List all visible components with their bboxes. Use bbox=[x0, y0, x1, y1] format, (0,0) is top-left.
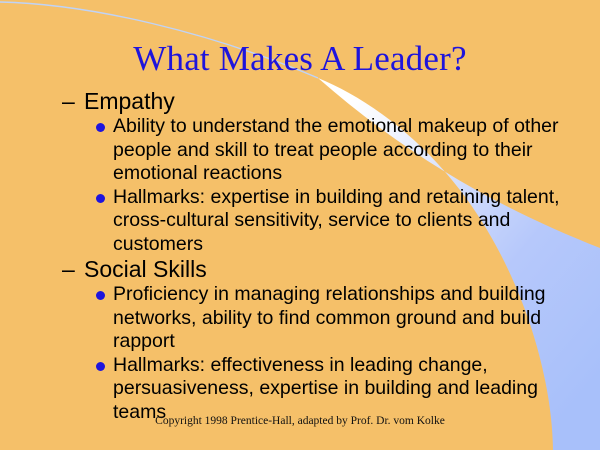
copyright-footer: Copyright 1998 Prentice-Hall, adapted by… bbox=[0, 414, 600, 428]
section-heading-label: Social Skills bbox=[84, 256, 207, 282]
presentation-slide: What Makes A Leader? – Empathy Ability t… bbox=[0, 0, 600, 450]
round-bullet-icon bbox=[96, 194, 105, 203]
bullet-text: Hallmarks: expertise in building and ret… bbox=[113, 186, 560, 255]
bullet-item: Proficiency in managing relationships an… bbox=[96, 283, 575, 354]
slide-body: – Empathy Ability to understand the emot… bbox=[0, 88, 600, 424]
bullet-text: Ability to understand the emotional make… bbox=[113, 115, 559, 184]
bullet-item: Ability to understand the emotional make… bbox=[96, 115, 575, 186]
section-heading-empathy: – Empathy bbox=[62, 88, 600, 115]
round-bullet-icon bbox=[96, 362, 105, 371]
page-title: What Makes A Leader? bbox=[0, 40, 600, 78]
round-bullet-icon bbox=[96, 291, 105, 300]
bullet-item: Hallmarks: expertise in building and ret… bbox=[96, 186, 575, 257]
section-heading-label: Empathy bbox=[84, 88, 175, 114]
section-heading-social-skills: – Social Skills bbox=[62, 256, 600, 283]
bullet-text: Hallmarks: effectiveness in leading chan… bbox=[113, 354, 538, 423]
bullet-text: Proficiency in managing relationships an… bbox=[113, 283, 546, 352]
dash-bullet-icon: – bbox=[62, 256, 75, 283]
round-bullet-icon bbox=[96, 123, 105, 132]
dash-bullet-icon: – bbox=[62, 88, 75, 115]
